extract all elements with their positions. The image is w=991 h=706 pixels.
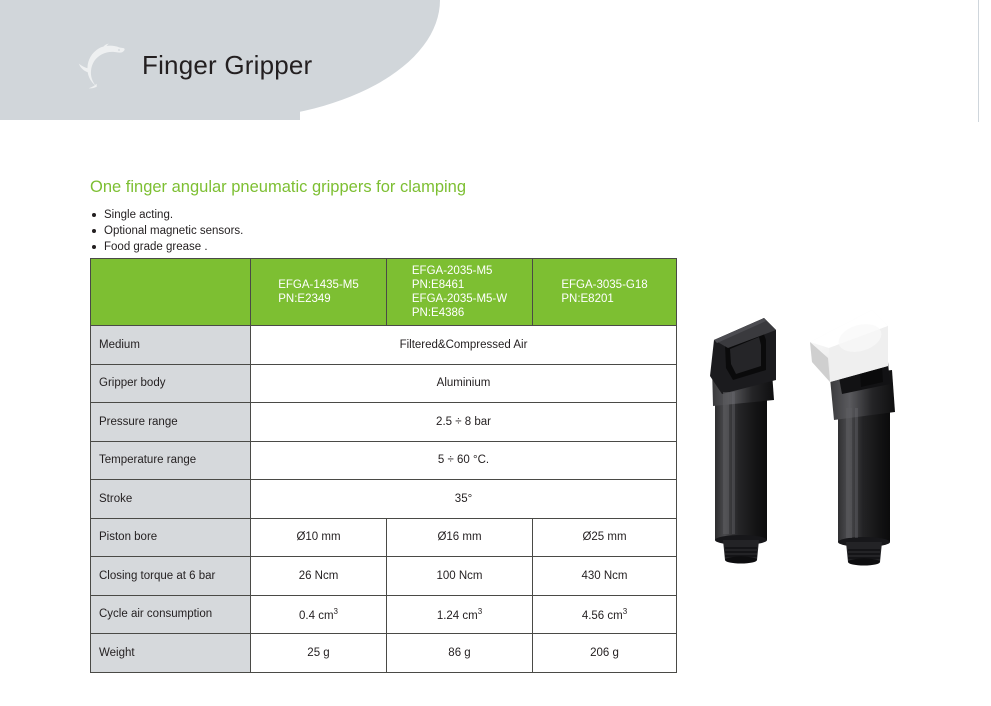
row-value-a: 26 Ncm <box>251 557 387 596</box>
list-item: Food grade grease . <box>90 239 243 255</box>
row-value-merged: 2.5 ÷ 8 bar <box>251 403 677 442</box>
row-label: Weight <box>91 634 251 673</box>
row-label: Stroke <box>91 480 251 519</box>
table-row: Closing torque at 6 bar 26 Ncm 100 Ncm 4… <box>91 557 677 596</box>
row-value-a: 0.4 cm3 <box>251 595 387 634</box>
model-code: EFGA-1435-M5 <box>278 279 359 291</box>
header: Finger Gripper <box>72 38 312 92</box>
dolphin-logo-icon <box>72 38 128 92</box>
table-row: Piston bore Ø10 mm Ø16 mm Ø25 mm <box>91 518 677 557</box>
table-header-col-b: EFGA-2035-M5 PN:E8461 EFGA-2035-M5-W PN:… <box>387 259 533 326</box>
row-value-merged: 5 ÷ 60 °C. <box>251 441 677 480</box>
unit-exponent: 3 <box>478 607 482 616</box>
row-label: Closing torque at 6 bar <box>91 557 251 596</box>
table-row: Pressure range 2.5 ÷ 8 bar <box>91 403 677 442</box>
list-item: Optional magnetic sensors. <box>90 223 243 239</box>
row-value-a: Ø10 mm <box>251 518 387 557</box>
table-row: Gripper body Aluminium <box>91 364 677 403</box>
feature-bullet-list: Single acting. Optional magnetic sensors… <box>90 207 243 255</box>
page-title: Finger Gripper <box>142 50 312 81</box>
row-value-b: 86 g <box>387 634 533 673</box>
part-number: PN:E2349 <box>278 293 330 305</box>
unit-exponent: 3 <box>623 607 627 616</box>
table-header-row: EFGA-1435-M5 PN:E2349 EFGA-2035-M5 PN:E8… <box>91 259 677 326</box>
right-edge-rule <box>978 0 979 122</box>
table-row: Temperature range 5 ÷ 60 °C. <box>91 441 677 480</box>
table-header-corner <box>91 259 251 326</box>
row-value-merged: 35° <box>251 480 677 519</box>
product-photo-two-grippers <box>692 296 920 584</box>
model-code: EFGA-2035-M5 <box>412 265 493 277</box>
row-value-a: 25 g <box>251 634 387 673</box>
row-label: Cycle air consumption <box>91 595 251 634</box>
model-code: EFGA-3035-G18 <box>561 279 647 291</box>
table-header-col-c: EFGA-3035-G18 PN:E8201 <box>533 259 677 326</box>
model-code-alt: EFGA-2035-M5-W <box>412 293 507 305</box>
row-value-c: 4.56 cm3 <box>533 595 677 634</box>
part-number: PN:E8461 <box>412 279 464 291</box>
row-label: Temperature range <box>91 441 251 480</box>
list-item: Single acting. <box>90 207 243 223</box>
row-value-b: 1.24 cm3 <box>387 595 533 634</box>
row-value-b: Ø16 mm <box>387 518 533 557</box>
row-label: Medium <box>91 326 251 365</box>
table-row: Stroke 35° <box>91 480 677 519</box>
specifications-table: EFGA-1435-M5 PN:E2349 EFGA-2035-M5 PN:E8… <box>90 258 677 673</box>
row-label: Pressure range <box>91 403 251 442</box>
row-value-merged: Filtered&Compressed Air <box>251 326 677 365</box>
table-header-col-a: EFGA-1435-M5 PN:E2349 <box>251 259 387 326</box>
row-label: Piston bore <box>91 518 251 557</box>
table-row: Weight 25 g 86 g 206 g <box>91 634 677 673</box>
part-number: PN:E8201 <box>561 293 613 305</box>
row-value-c: 430 Ncm <box>533 557 677 596</box>
row-value-b: 100 Ncm <box>387 557 533 596</box>
table-row: Medium Filtered&Compressed Air <box>91 326 677 365</box>
row-value-c: 206 g <box>533 634 677 673</box>
section-title: One finger angular pneumatic grippers fo… <box>90 178 466 197</box>
row-value-c: Ø25 mm <box>533 518 677 557</box>
unit-exponent: 3 <box>334 607 338 616</box>
table-row: Cycle air consumption 0.4 cm3 1.24 cm3 4… <box>91 595 677 634</box>
part-number-alt: PN:E4386 <box>412 307 464 319</box>
row-label: Gripper body <box>91 364 251 403</box>
row-value-merged: Aluminium <box>251 364 677 403</box>
